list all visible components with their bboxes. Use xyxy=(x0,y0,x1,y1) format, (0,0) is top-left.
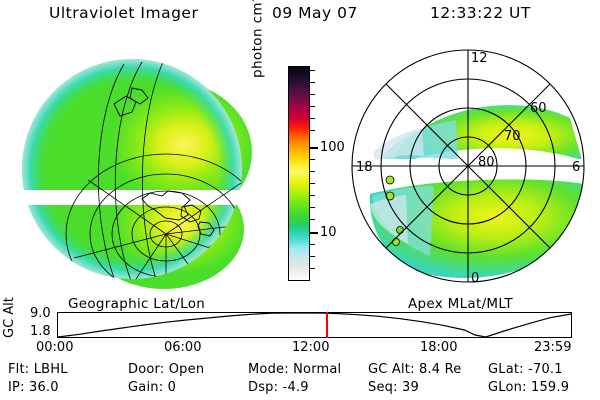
apex-mlt-label-12: 12 xyxy=(471,51,488,66)
time-tick-1: 06:00 xyxy=(164,340,201,355)
status-glon: GLon: 159.9 xyxy=(488,380,569,395)
altitude-axis-label: GC Alt xyxy=(2,297,17,338)
current-time-marker xyxy=(326,312,328,338)
status-glat: GLat: -70.1 xyxy=(488,362,563,377)
header-bar: Ultraviolet Imager 09 May 07 12:33:22 UT xyxy=(0,4,600,32)
time-tick-0: 00:00 xyxy=(36,340,73,355)
apex-mlat-label-70: 70 xyxy=(504,129,521,144)
status-gain: Gain: 0 xyxy=(128,380,176,395)
colorbar-axis-title: photon cm-2s-1 xyxy=(248,0,266,78)
status-mode: Mode: Normal xyxy=(248,362,341,377)
altitude-plot-box xyxy=(57,312,572,338)
colorbar-gradient xyxy=(289,67,309,280)
observation-time: 12:33:22 UT xyxy=(430,4,531,22)
geographic-disk xyxy=(14,44,264,294)
status-door: Door: Open xyxy=(128,362,204,377)
apex-polar-panel: 12 18 6 0 60 70 80 xyxy=(338,44,594,296)
apex-polar-svg: 12 18 6 0 60 70 80 xyxy=(338,44,594,296)
status-dsp: Dsp: -4.9 xyxy=(248,380,309,395)
geographic-disk-svg xyxy=(14,44,264,294)
time-tick-3: 18:00 xyxy=(420,340,457,355)
altitude-curve-svg xyxy=(58,313,571,337)
status-ip: IP: 36.0 xyxy=(8,380,59,395)
altitude-plot: GC Alt 9.0 1.8 xyxy=(0,310,600,342)
time-tick-4: 23:59 xyxy=(534,340,571,355)
status-bar: Flt: LBHL Door: Open Mode: Normal GC Alt… xyxy=(0,362,600,400)
instrument-title: Ultraviolet Imager xyxy=(49,4,198,22)
apex-mlt-label-6: 6 xyxy=(572,160,580,175)
time-axis: 00:00 06:00 12:00 18:00 23:59 xyxy=(0,340,600,358)
colorbar-tick-label-10: 10 xyxy=(320,225,337,240)
colorbar-ticks xyxy=(310,66,318,281)
apex-mlt-label-18: 18 xyxy=(356,160,373,175)
altitude-curve xyxy=(58,313,571,337)
time-tick-2: 12:00 xyxy=(292,340,329,355)
colorbar-axis-exp-1: -2 xyxy=(248,0,259,2)
colorbar xyxy=(288,66,310,281)
observation-date: 09 May 07 xyxy=(272,4,358,22)
apex-mlat-label-60: 60 xyxy=(530,101,547,116)
status-seq: Seq: 39 xyxy=(368,380,419,395)
altitude-ytick-high: 9.0 xyxy=(30,306,51,321)
apex-mlat-label-80: 80 xyxy=(478,155,495,170)
status-filter: Flt: LBHL xyxy=(8,362,68,377)
colorbar-axis-title-main: photon cm xyxy=(250,2,266,78)
altitude-ytick-low: 1.8 xyxy=(30,324,51,339)
apex-mlt-label-0: 0 xyxy=(471,271,479,286)
apex-grid xyxy=(352,50,584,282)
geographic-image-panel xyxy=(14,44,264,294)
uvi-display: Ultraviolet Imager 09 May 07 12:33:22 UT xyxy=(0,0,600,400)
status-gc-alt: GC Alt: 8.4 Re xyxy=(368,362,461,377)
